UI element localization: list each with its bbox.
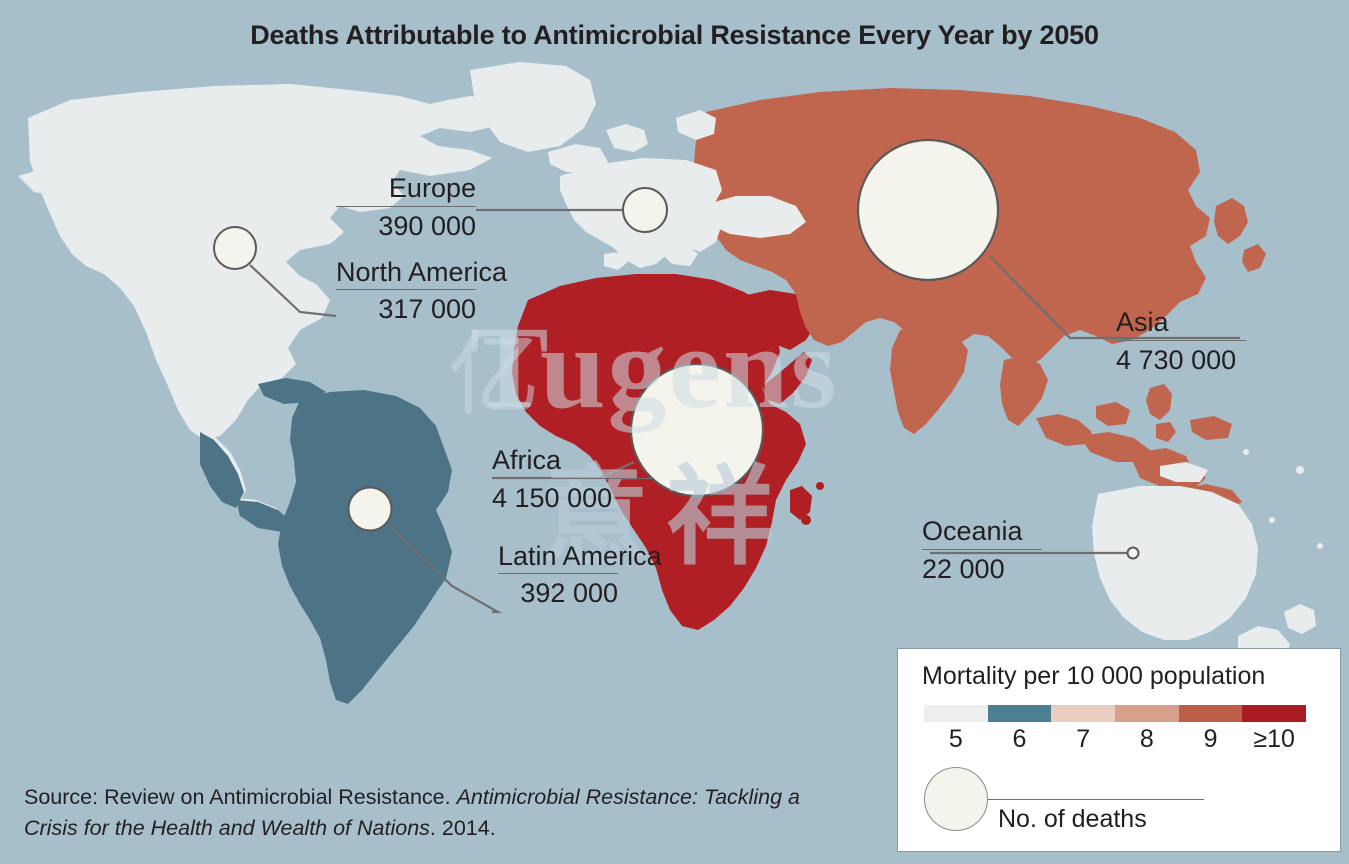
callout-asia-name: Asia (1116, 306, 1246, 339)
legend-tick-6: 6 (988, 725, 1052, 757)
callout-europe-name: Europe (336, 172, 476, 205)
source-suffix: . 2014. (430, 816, 496, 840)
callout-north-america-value: 317 000 (336, 290, 476, 326)
bubble-asia (858, 140, 998, 280)
callout-latin-america-value: 392 000 (498, 574, 618, 610)
legend-title: Mortality per 10 000 population (922, 662, 1265, 691)
callout-asia-value: 4 730 000 (1116, 341, 1246, 377)
legend-tick-5: 5 (924, 725, 988, 757)
callout-asia: Asia 4 730 000 (1116, 306, 1246, 377)
legend-bubble-rule (988, 799, 1204, 800)
legend-tick-9: 9 (1179, 725, 1243, 757)
legend-bubble-label: No. of deaths (998, 805, 1147, 834)
source-note: Source: Review on Antimicrobial Resistan… (24, 782, 824, 844)
bubble-oceania (1128, 548, 1139, 559)
legend-color-ramp (924, 705, 1306, 722)
infographic-root: 亿 Tugens 意祥 Deaths Attributable to Antim… (0, 0, 1349, 864)
legend-bubble-symbol (924, 767, 988, 831)
legend-swatch-8 (1115, 705, 1179, 722)
callout-europe-value: 390 000 (336, 207, 476, 243)
source-prefix: Source: Review on Antimicrobial Resistan… (24, 785, 457, 809)
callout-oceania: Oceania 22 000 (922, 515, 1042, 586)
callout-north-america-name: North America (336, 256, 476, 288)
callout-europe: Europe 390 000 (336, 172, 476, 243)
legend-tick-8: 8 (1115, 725, 1179, 757)
callout-africa-name: Africa (492, 444, 652, 477)
legend-tick-labels: 5 6 7 8 9 ≥10 (924, 725, 1306, 757)
legend-swatch-7 (1051, 705, 1115, 722)
callout-north-america: North America 317 000 (336, 256, 476, 326)
legend-panel: Mortality per 10 000 population 5 6 7 8 … (897, 648, 1341, 852)
bubble-europe (623, 188, 667, 232)
callout-oceania-value: 22 000 (922, 550, 1042, 586)
callout-oceania-name: Oceania (922, 515, 1042, 548)
legend-swatch-5 (924, 705, 988, 722)
page-title: Deaths Attributable to Antimicrobial Res… (0, 20, 1349, 51)
callout-latin-america-name: Latin America (498, 540, 618, 572)
legend-swatch-6 (988, 705, 1052, 722)
bubble-latin-america (349, 488, 392, 531)
callout-africa-value: 4 150 000 (492, 479, 652, 515)
legend-swatch-10 (1242, 705, 1306, 722)
legend-tick-10: ≥10 (1242, 725, 1306, 757)
legend-swatch-9 (1179, 705, 1243, 722)
legend-tick-7: 7 (1051, 725, 1115, 757)
bubble-north-america (214, 227, 256, 269)
callout-latin-america: Latin America 392 000 (498, 540, 618, 610)
callout-africa: Africa 4 150 000 (492, 444, 652, 515)
